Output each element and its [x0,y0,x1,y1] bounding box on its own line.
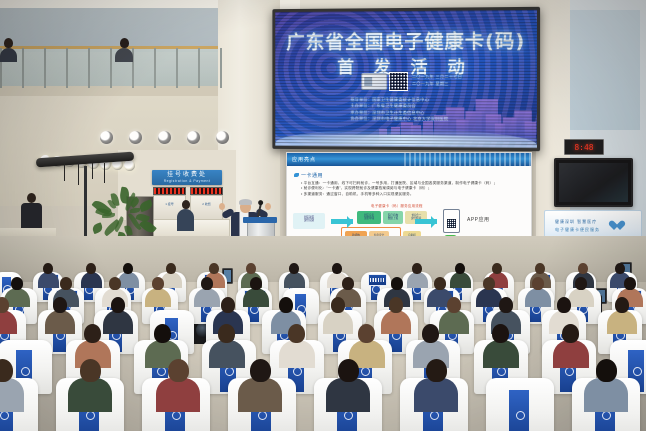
event-photo-scene: 挂号收费处 Registration & Payment 1 挂号 2 收费 广… [0,0,646,431]
balcony-post [198,48,200,88]
audience-head [288,324,305,343]
balcony-post [176,48,178,88]
audience-head [447,297,461,313]
audience-head [250,277,262,290]
audience-shoulders [38,272,59,289]
audience-head [532,277,544,290]
flow-box: 居民实名 注册申领 [357,211,381,224]
audience-shoulders [450,272,471,289]
audience-shoulders [194,288,219,308]
audience-head [332,263,342,274]
balcony-post [220,48,222,88]
phone-qr-icon [443,209,460,233]
audience-head [575,277,587,290]
app-usage-label: APP应用 [467,216,490,223]
audience-shoulders [279,340,315,369]
slide-bullet: • 多渠道服务：通过窗口、自助机、手机等多种入口实现便民服务。 [301,192,497,197]
audience-head [218,324,235,343]
flow-box: 医疗机构 数据上报 [383,211,403,224]
audience-shoulders [568,288,593,308]
rig-cable [64,163,65,181]
audience-head [152,277,164,290]
slide-bullet-icon [294,173,299,177]
potted-plant [90,178,146,240]
audience-shoulders [238,378,282,413]
audience-head [455,263,465,274]
balcony-post [44,48,46,88]
balcony-post [110,48,112,88]
audience-head [221,297,235,313]
audience-head [615,297,629,313]
audience-head [86,263,96,274]
audience-head [84,324,101,343]
audience-head [53,297,67,313]
audience-shoulders [326,378,370,413]
audience-shoulders [476,288,501,308]
audience-head [578,263,588,274]
flow-arrow-1 [331,219,353,224]
audience-head [535,263,545,274]
balcony-post [88,48,90,88]
audience-head [499,297,513,313]
slide-header-label: 应用亮点 [292,156,316,163]
studio-light [124,160,135,171]
audience-shoulders [381,310,410,334]
ceiling-downlight [100,131,113,144]
led-clock-display: 8:48 [564,139,604,155]
balcony-post [66,48,68,88]
right-banner-line2: 电子健康卡便民服务 [555,227,600,233]
audience-head [412,263,422,274]
balcony-post [22,48,24,88]
audience-head [123,263,133,274]
light-rig-stand [84,166,87,242]
audience-head [111,297,125,313]
audience-head [11,277,23,290]
audience-head [60,277,72,290]
audience-head [342,277,354,290]
audience-head [43,263,53,274]
audience-shoulders [103,310,132,334]
audience-shoulders [407,272,428,289]
audience-shoulders [553,340,589,369]
audience-head [168,359,189,382]
audience-head [250,359,271,382]
audience-head [434,277,446,290]
audience-shoulders [45,310,74,334]
audience-shoulders [439,310,468,334]
plant-leaf [130,208,140,213]
podium-top-panel [243,217,277,223]
audience-shoulders [483,340,519,369]
audience-head [391,277,403,290]
audience-shoulders [584,378,628,413]
staff-head [182,200,190,209]
registration-sign-en: Registration & Payment [152,179,222,184]
audience-head [422,324,439,343]
queue-led-right [190,187,223,195]
audience-head [358,324,375,343]
audience-head [624,277,636,290]
audience-head [562,324,579,343]
audience-head [615,263,625,274]
staff-body [177,209,194,231]
audience-shoulders [68,378,112,413]
rig-cable [104,163,105,183]
audience-head [596,359,617,382]
registration-sign-cn: 挂号收费处 [152,170,222,179]
audience-head [426,359,447,382]
audience-shoulders [607,310,636,334]
heart-logo-icon [614,221,625,231]
speaker-left-hand [219,203,225,210]
audience-shoulders [243,288,268,308]
booth-2-label: 2 收费 [191,196,222,206]
audience-head [109,277,121,290]
slide-flow-caption: 电子健康卡（码）服务应用流程 [371,203,423,208]
audience-head [557,297,571,313]
ceiling-downlight [158,131,171,144]
audience-shoulders [209,340,245,369]
vip-seat-card [368,274,387,286]
audience-head [154,324,171,343]
audience-shoulders [156,378,200,413]
security-guard-head [27,193,36,203]
chair-sash [509,390,529,431]
audience-shoulders [525,288,550,308]
clock-value: 8:48 [574,143,593,152]
audience-shoulders [323,310,352,334]
wall-monitor [554,158,633,207]
slide-bullet-list: • 平台互通：一卡通用，线下可扫码就诊，一号多用，打通医院、区域与全国各类服务渠… [301,181,497,197]
booth-1-label: 1 挂号 [154,196,185,206]
queue-led-left [153,187,186,195]
audience-shoulders [145,288,170,308]
speaker-hair [239,199,252,205]
audience-head [483,277,495,290]
audience-head [80,359,101,382]
ceiling-downlight [129,131,142,144]
right-window-glass [566,10,640,130]
balcony-post [154,48,156,88]
right-banner-line1: 健康深圳 智慧医疗 [555,219,597,225]
balcony-viewer-body [0,48,17,62]
plant-leaf [91,222,103,234]
registration-sign: 挂号收费处 Registration & Payment [152,170,222,185]
balcony-viewer-head [4,38,13,48]
audience-head [389,297,403,313]
audience-head [289,263,299,274]
audience-shoulders [81,272,102,289]
rig-cable [92,163,93,179]
audience-head [246,263,256,274]
audience-head [492,324,509,343]
ceiling-downlight [216,131,229,144]
slide-header-bar: 应用亮点 [287,153,531,166]
audience-head [331,297,345,313]
balcony-viewer2-head [120,38,129,48]
led-stage-banner: 广东省全国电子健康卡(码) 首 发 活 动 二〇一九年 三月二十七日 二〇一九年… [272,7,540,151]
audience-shoulders [284,272,305,289]
slide-source-box: 居民就医身份识别 [293,213,325,229]
audience-head [209,263,219,274]
audience-head [338,359,359,382]
audience-head [279,297,293,313]
flow-arrow-2 [415,219,437,224]
audience-head [201,277,213,290]
speaker-right-hand [265,203,271,210]
rig-cable [78,163,79,185]
audience-shoulders [414,378,458,413]
led-scanline-overlay [275,10,537,148]
audience-head [166,263,176,274]
slide-section-label: 一卡通用 [301,172,323,179]
balcony-viewer2-body [115,48,133,62]
ceiling-downlight [187,131,200,144]
audience-head [492,263,502,274]
counter-booth-2: 2 收费 [190,195,223,221]
